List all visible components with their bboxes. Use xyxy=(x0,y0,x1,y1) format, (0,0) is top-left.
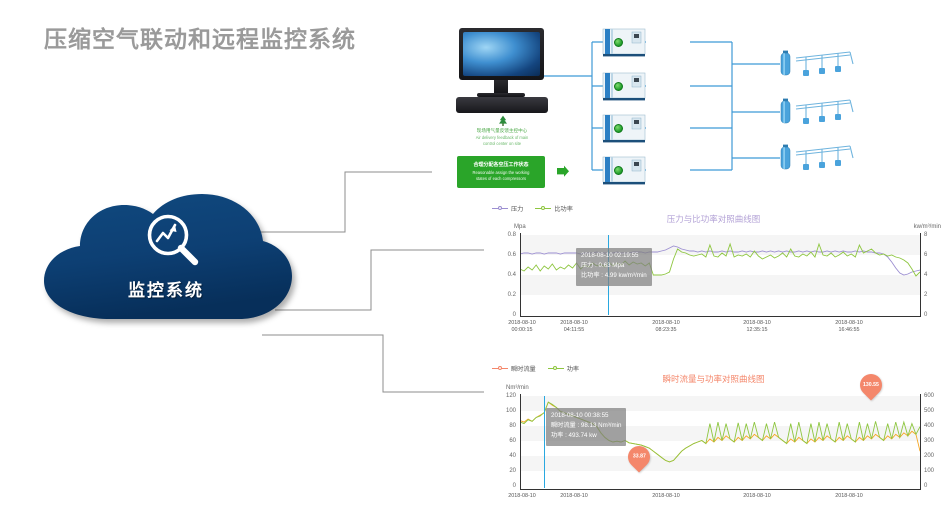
x-tick-line-1: 2018-08-10 xyxy=(636,493,696,500)
y2-tick: 300 xyxy=(924,438,934,444)
x-tick-line-1: 2018-08-10 xyxy=(492,320,552,327)
tooltip-row-1: 瞬时流量 : 98.13 Nm³/min xyxy=(551,421,621,431)
chart1-legend: 压力 比功率 xyxy=(492,204,573,213)
tooltip-row-2: 功率 : 493.74 kw xyxy=(551,431,621,441)
x-tick: 2018-08-10 00:00:15 xyxy=(492,320,552,335)
cloud-shape-icon xyxy=(36,193,296,323)
compressor-unit[interactable] xyxy=(602,114,646,143)
x-tick-line-1: 2018-08-10 xyxy=(544,493,604,500)
y-tick: 120 xyxy=(490,393,516,399)
y-tick: 100 xyxy=(490,408,516,414)
x-tick: 2018-08-10 16:46:55 xyxy=(819,320,879,335)
chart2-axis-right xyxy=(920,394,921,490)
x-tick-line-2: 16:46:55 xyxy=(819,327,879,334)
y2-tick: 0 xyxy=(924,483,927,489)
y2-tick: 500 xyxy=(924,408,934,414)
topology-diagram-panel: 现场用气量反馈主控中心 Air delivery feedback of mai… xyxy=(432,16,945,201)
legend-label: 功率 xyxy=(567,364,579,373)
x-tick: 2018-08-10 12:35:15 xyxy=(727,320,787,335)
y2-tick: 4 xyxy=(924,272,927,278)
y-tick: 0.8 xyxy=(492,232,516,238)
chart2-tooltip: 2018-08-10 00:38:55 瞬时流量 : 98.13 Nm³/min… xyxy=(546,408,626,446)
y-tick: 40 xyxy=(490,453,516,459)
air-tank xyxy=(780,50,791,78)
pipe-network xyxy=(432,16,945,201)
y-tick: 0.4 xyxy=(492,272,516,278)
chart1-y2label: kw/m³/min xyxy=(914,224,941,230)
slide-canvas: 压缩空气联动和远程监控系统 监控系统 xyxy=(0,0,945,529)
x-tick: 2018-08-10 08:23:35 xyxy=(636,320,696,335)
y-tick: 20 xyxy=(490,468,516,474)
y2-tick: 100 xyxy=(924,468,934,474)
pressure-power-chart-panel: 压力 比功率 压力与比功率对照曲线图 Mpa kw/m³/min 0.8 0.6… xyxy=(484,200,943,333)
min-value-label: 33.87 xyxy=(633,454,646,460)
y-tick: 80 xyxy=(490,423,516,429)
legend-item[interactable]: 比功率 xyxy=(535,204,573,213)
tooltip-time: 2018-08-10 00:38:55 xyxy=(551,411,621,421)
compressor-unit[interactable] xyxy=(602,156,646,185)
compressor-unit[interactable] xyxy=(602,72,646,101)
monitoring-cloud[interactable]: 监控系统 xyxy=(36,193,296,323)
chart1-ylabel: Mpa xyxy=(514,224,526,230)
legend-label: 压力 xyxy=(511,204,523,213)
legend-label: 比功率 xyxy=(554,204,573,213)
legend-marker-icon xyxy=(492,365,508,372)
y2-tick: 600 xyxy=(924,393,934,399)
status-node-4[interactable] xyxy=(614,166,623,175)
chart1-title: 压力与比功率对照曲线图 xyxy=(484,213,943,225)
x-tick-line-2: 00:00:15 xyxy=(492,327,552,334)
x-tick: 2018-08-10 xyxy=(819,493,879,500)
x-tick-line-1: 2018-08-10 xyxy=(544,320,604,327)
status-node-3[interactable] xyxy=(614,124,623,133)
chart2-axis-left xyxy=(520,394,521,490)
y2-tick: 400 xyxy=(924,423,934,429)
y-tick: 60 xyxy=(490,438,516,444)
x-tick-line-1: 2018-08-10 xyxy=(819,320,879,327)
y-tick: 0.2 xyxy=(492,292,516,298)
chart2-ylabel: Nm³/min xyxy=(506,385,529,391)
y2-tick: 200 xyxy=(924,453,934,459)
x-tick-line-2: 12:35:15 xyxy=(727,327,787,334)
status-node-1[interactable] xyxy=(614,38,623,47)
legend-label: 瞬时流量 xyxy=(511,364,536,373)
legend-marker-icon xyxy=(492,205,508,212)
y2-tick: 8 xyxy=(924,232,927,238)
x-tick-line-2: 08:23:35 xyxy=(636,327,696,334)
x-tick: 2018-08-10 xyxy=(636,493,696,500)
legend-marker-icon xyxy=(548,365,564,372)
chart1-tooltip: 2018-08-10 02:19:55 压力 : 0.63 Mpa 比功率 : … xyxy=(576,248,652,286)
tooltip-row-2: 比功率 : 4.99 kw/m³/min xyxy=(581,271,647,281)
x-tick-line-1: 2018-08-10 xyxy=(727,320,787,327)
max-value-label: 130.55 xyxy=(863,382,879,388)
tooltip-row-1: 压力 : 0.63 Mpa xyxy=(581,261,647,271)
x-tick-line-1: 2018-08-10 xyxy=(636,320,696,327)
end-use-piping xyxy=(794,138,856,172)
x-tick: 2018-08-10 04:11:55 xyxy=(544,320,604,335)
x-tick-line-1: 2018-08-10 xyxy=(819,493,879,500)
end-use-piping xyxy=(794,44,856,78)
chart1-axis-left xyxy=(520,233,521,317)
y2-tick: 6 xyxy=(924,252,927,258)
x-tick: 2018-08-10 xyxy=(492,493,552,500)
legend-item[interactable]: 压力 xyxy=(492,204,523,213)
y-tick: 0 xyxy=(492,312,516,318)
chart1-axis-right xyxy=(920,233,921,317)
chart1-axis-bottom xyxy=(520,316,921,317)
tooltip-time: 2018-08-10 02:19:55 xyxy=(581,251,647,261)
air-tank xyxy=(780,98,791,126)
y-tick: 0 xyxy=(490,483,516,489)
x-tick-line-1: 2018-08-10 xyxy=(492,493,552,500)
x-tick: 2018-08-10 xyxy=(727,493,787,500)
x-tick-line-2: 04:11:55 xyxy=(544,327,604,334)
status-node-2[interactable] xyxy=(614,82,623,91)
chart2-legend: 瞬时流量 功率 xyxy=(492,364,579,373)
end-use-piping xyxy=(794,92,856,126)
x-tick-line-1: 2018-08-10 xyxy=(727,493,787,500)
flow-power-chart-panel: 瞬时流量 功率 瞬时流量与功率对照曲线图 Nm³/min 120 100 80 … xyxy=(484,360,943,529)
page-title: 压缩空气联动和远程监控系统 xyxy=(44,20,356,54)
legend-item[interactable]: 功率 xyxy=(548,364,579,373)
y-tick: 0.6 xyxy=(492,252,516,258)
legend-item[interactable]: 瞬时流量 xyxy=(492,364,536,373)
y2-tick: 0 xyxy=(924,312,927,318)
air-tank xyxy=(780,144,791,172)
compressor-unit[interactable] xyxy=(602,28,646,57)
legend-marker-icon xyxy=(535,205,551,212)
chart2-axis-bottom xyxy=(520,489,921,490)
x-tick: 2018-08-10 xyxy=(544,493,604,500)
y2-tick: 2 xyxy=(924,292,927,298)
